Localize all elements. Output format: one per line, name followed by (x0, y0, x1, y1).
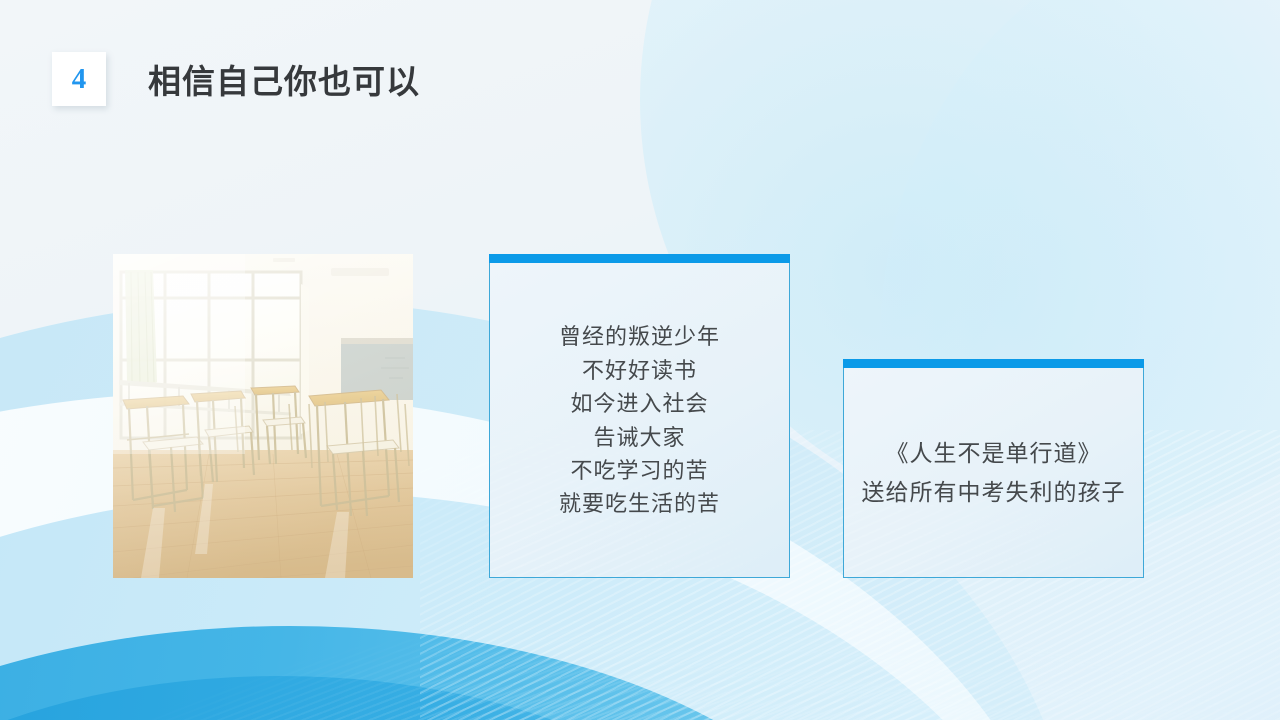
reference-line: 送给所有中考失利的孩子 (862, 473, 1126, 512)
reference-textbox-content: 《人生不是单行道》 送给所有中考失利的孩子 (844, 360, 1143, 577)
quote-textbox: 曾经的叛逆少年 不好好读书 如今进入社会 告诫大家 不吃学习的苦 就要吃生活的苦 (489, 254, 790, 578)
classroom-photo (113, 254, 413, 578)
quote-line: 曾经的叛逆少年 (559, 320, 720, 353)
quote-line: 就要吃生活的苦 (559, 487, 720, 520)
quote-line: 告诫大家 (593, 421, 685, 454)
quote-line: 如今进入社会 (570, 387, 708, 420)
quote-textbox-content: 曾经的叛逆少年 不好好读书 如今进入社会 告诫大家 不吃学习的苦 就要吃生活的苦 (490, 255, 789, 577)
wave-shape-5 (0, 676, 770, 720)
slide-canvas: 4 相信自己你也可以 (0, 0, 1280, 720)
reference-textbox: 《人生不是单行道》 送给所有中考失利的孩子 (843, 359, 1144, 578)
section-number-badge: 4 (52, 52, 106, 106)
quote-line: 不好好读书 (582, 354, 697, 387)
slide-header: 4 相信自己你也可以 (52, 52, 420, 106)
wave-shape-4 (0, 626, 880, 720)
page-title: 相信自己你也可以 (148, 55, 420, 103)
classroom-photo-illustration (113, 254, 413, 578)
quote-line: 不吃学习的苦 (570, 454, 708, 487)
reference-line: 《人生不是单行道》 (886, 434, 1102, 473)
